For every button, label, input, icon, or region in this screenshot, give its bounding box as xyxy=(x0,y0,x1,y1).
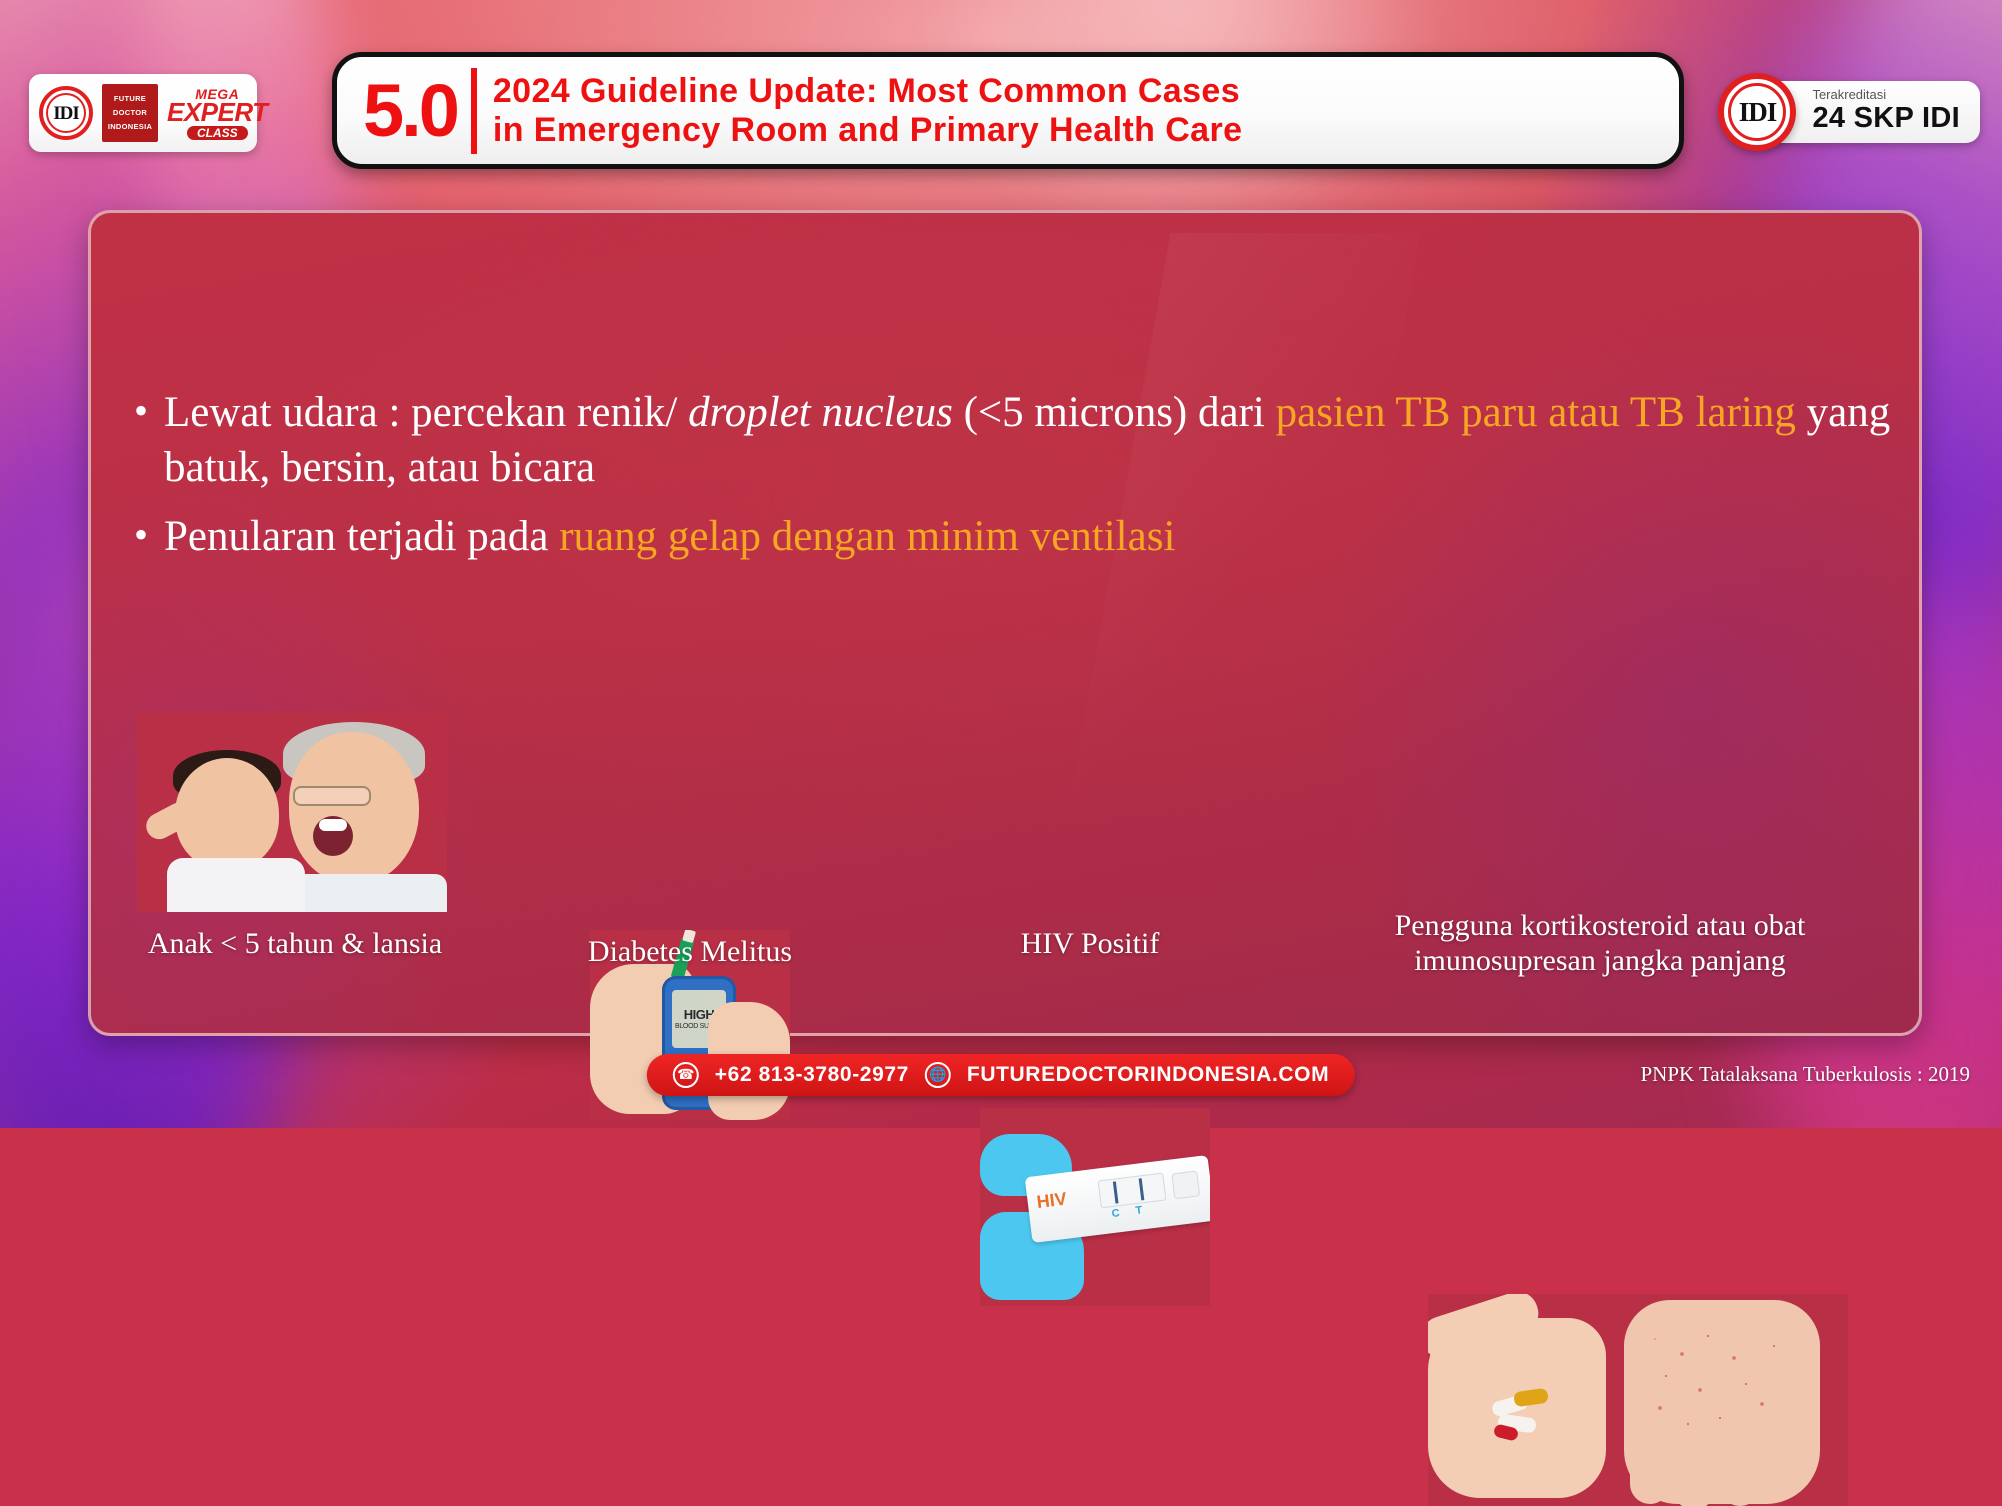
accreditation-value: 24 SKP IDI xyxy=(1812,103,1960,135)
class-label: CLASS xyxy=(187,126,248,140)
result-window xyxy=(1098,1173,1167,1209)
website-url: FUTUREDOCTORINDONESIA.COM xyxy=(967,1063,1329,1087)
finger-1 xyxy=(1630,1444,1670,1504)
bullet-list: • Lewat udara : percekan renik/ droplet … xyxy=(134,385,1894,578)
population-caption-1: Anak < 5 tahun & lansia xyxy=(110,926,480,961)
finger-4 xyxy=(1766,1444,1806,1496)
fingers-group xyxy=(1628,1444,1816,1506)
whatsapp-icon: ☎ xyxy=(673,1062,699,1088)
bullet-dot-icon: • xyxy=(134,385,148,436)
list-item: • Penularan terjadi pada ruang gelap den… xyxy=(134,509,1894,564)
bullet-text-run: Lewat udara : percekan renik/ xyxy=(164,389,688,436)
elderly-mouth-shape xyxy=(313,816,353,856)
population-gallery: Anak < 5 tahun & lansia HIGH BLOOD SUGAR… xyxy=(110,712,1900,1022)
title-line-1: 2024 Guideline Update: Most Common Cases xyxy=(493,72,1243,110)
finger-3 xyxy=(1720,1444,1760,1506)
elderly-head-shape xyxy=(289,732,419,884)
bullet-text-1: Lewat udara : percekan renik/ droplet nu… xyxy=(164,385,1894,495)
title-text-block: 2024 Guideline Update: Most Common Cases… xyxy=(493,72,1243,148)
title-line-2: in Emergency Room and Primary Health Car… xyxy=(493,111,1243,149)
pills-and-rash-photo xyxy=(1428,1294,1848,1506)
bullet-dot-icon: • xyxy=(134,509,148,560)
slide-footer: ☎ +62 813-3780-2977 🌐 FUTUREDOCTORINDONE… xyxy=(0,1032,2002,1128)
bullet-text-run: Penularan terjadi pada xyxy=(164,513,559,560)
title-divider xyxy=(471,68,477,154)
bullet-text-run: ruang gelap dengan minim ventilasi xyxy=(559,513,1175,560)
baby-and-elderly-photo xyxy=(137,712,447,912)
slide-header: IDI FUTURE DOCTOR INDONESIA MEGA EXPERT … xyxy=(0,0,2002,190)
accreditation-label: Terakreditasi xyxy=(1812,88,1960,102)
list-item: • Lewat udara : percekan renik/ droplet … xyxy=(134,385,1894,495)
yellow-capsule xyxy=(1513,1388,1549,1408)
test-label: T xyxy=(1135,1204,1143,1217)
accreditation-badge: IDI Terakreditasi 24 SKP IDI xyxy=(1718,68,1980,156)
globe-icon: 🌐 xyxy=(925,1062,951,1088)
session-number: 5.0 xyxy=(363,74,471,148)
fdi-line-2: DOCTOR xyxy=(113,106,147,120)
pills-group xyxy=(1492,1390,1566,1434)
source-citation: PNPK Tatalaksana Tuberkulosis : 2019 xyxy=(1641,1062,1971,1087)
bullet-text-run: (<5 microns) dari xyxy=(953,389,1276,436)
contact-bar[interactable]: ☎ +62 813-3780-2977 🌐 FUTUREDOCTORINDONE… xyxy=(647,1054,1355,1096)
expert-label: EXPERT xyxy=(167,99,268,125)
bullet-text-2: Penularan terjadi pada ruang gelap denga… xyxy=(164,509,1894,564)
fdi-line-3: INDONESIA xyxy=(108,120,152,134)
test-line-mark xyxy=(1139,1178,1145,1200)
idi-emblem-icon: IDI xyxy=(39,86,93,140)
sample-well xyxy=(1171,1170,1200,1199)
baby-clothes-shape xyxy=(167,858,305,912)
idi-emblem-icon-large: IDI xyxy=(1718,73,1796,151)
population-caption-2: Diabetes Melitus xyxy=(480,934,900,969)
hiv-test-label: HIV xyxy=(1036,1189,1068,1214)
eyeglasses-icon xyxy=(293,786,371,806)
population-caption-3: HIV Positif xyxy=(910,926,1270,961)
skin-rash-pattern xyxy=(1642,1328,1792,1438)
future-doctor-indonesia-logo: FUTURE DOCTOR INDONESIA xyxy=(102,84,158,142)
bullet-text-run: droplet nucleus xyxy=(688,389,953,436)
mega-expert-class-logo: MEGA EXPERT CLASS xyxy=(167,87,268,140)
control-line-mark xyxy=(1113,1181,1119,1203)
idi-monogram-label: IDI xyxy=(53,104,79,123)
title-badge: 5.0 2024 Guideline Update: Most Common C… xyxy=(332,52,1684,169)
bullet-text-run: pasien TB paru atau TB laring xyxy=(1276,389,1796,436)
population-caption-4: Pengguna kortikosteroid atau obat imunos… xyxy=(1310,908,1890,979)
finger-2 xyxy=(1674,1444,1714,1506)
idi-monogram-label-large: IDI xyxy=(1739,99,1777,126)
fdi-line-1: FUTURE xyxy=(114,92,146,106)
control-label: C xyxy=(1111,1207,1120,1220)
phone-number: +62 813-3780-2977 xyxy=(715,1063,909,1087)
brand-logo-left: IDI FUTURE DOCTOR INDONESIA MEGA EXPERT … xyxy=(29,74,257,152)
hiv-rapid-test-photo: HIV C T xyxy=(980,1108,1210,1306)
